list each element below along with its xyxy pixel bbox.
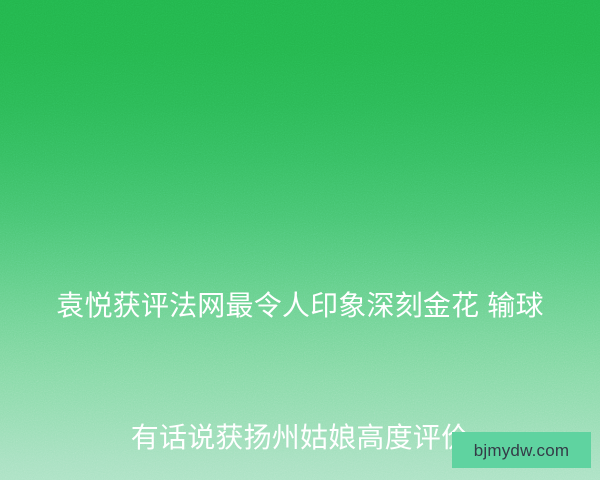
headline-line-1: 袁悦获评法网最令人印象深刻金花 输球 bbox=[0, 284, 600, 328]
watermark-badge: bjmydw.com bbox=[452, 432, 591, 468]
watermark-label: bjmydw.com bbox=[474, 442, 570, 459]
news-image-card: 袁悦获评法网最令人印象深刻金花 输球 有话说获扬州姑娘高度评价 bjmydw.c… bbox=[0, 0, 600, 480]
